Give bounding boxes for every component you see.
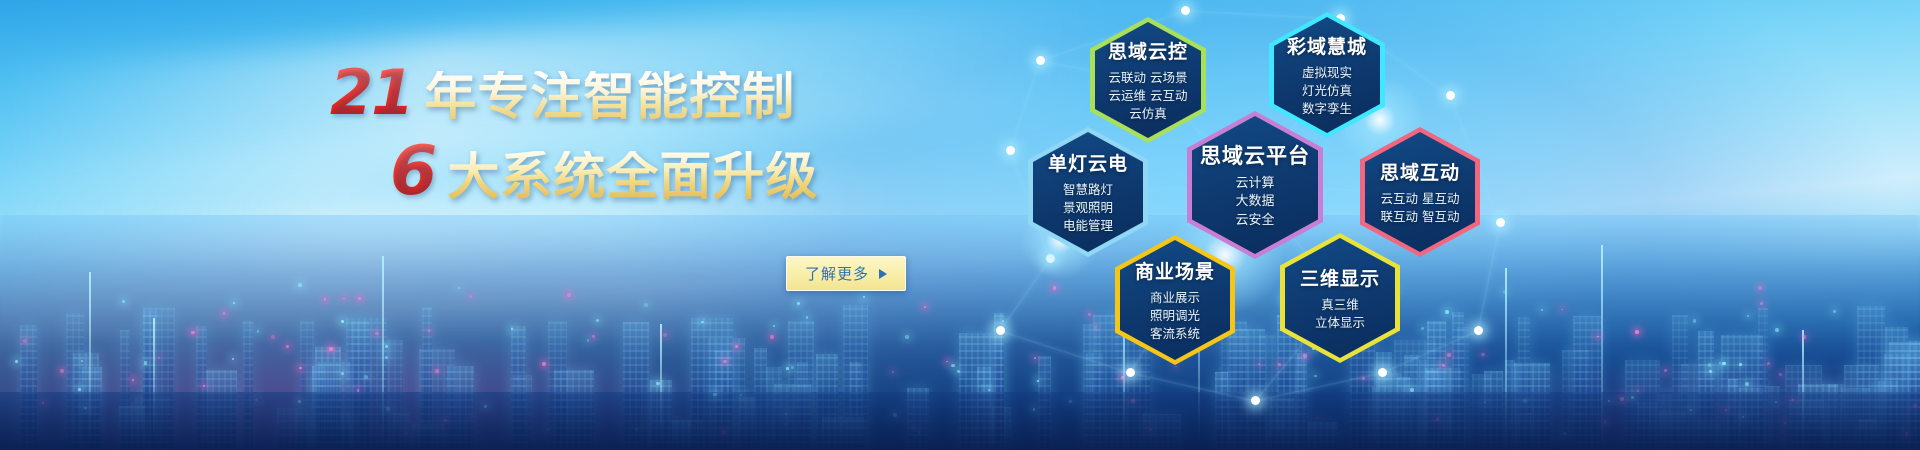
city-light — [957, 370, 960, 373]
city-light — [567, 293, 571, 297]
hexagon-content: 三维显示真三维立体显示 — [1280, 233, 1400, 363]
systems-number: 6 — [390, 138, 447, 206]
waterfront — [0, 392, 1920, 450]
city-light — [951, 364, 955, 368]
network-connector — [1000, 330, 1131, 374]
city-light — [1833, 310, 1836, 313]
hexagon-title: 彩域慧城 — [1287, 32, 1367, 59]
network-node — [1006, 146, 1015, 155]
city-light — [23, 339, 27, 343]
city-light — [1775, 328, 1779, 332]
years-number: 21 — [330, 62, 424, 124]
hexagon-title: 思域互动 — [1380, 158, 1460, 185]
network-connector — [1130, 372, 1255, 402]
city-light — [132, 379, 134, 381]
hexagon-subtitle-line: 联互动 智互动 — [1381, 208, 1460, 226]
city-light — [1709, 370, 1712, 373]
hexagon-subtitle-line: 电能管理 — [1063, 217, 1113, 235]
city-light — [122, 300, 125, 303]
network-connector — [1009, 61, 1041, 152]
city-light — [341, 372, 344, 375]
city-light — [232, 358, 234, 360]
play-triangle-icon — [879, 269, 887, 279]
hexagon-title: 三维显示 — [1300, 264, 1380, 291]
hexagon-subtitle-line: 云计算 — [1235, 175, 1274, 193]
city-light — [1561, 309, 1563, 311]
hexagon-subtitle-line: 虚拟现实 — [1302, 64, 1352, 82]
hexagon-subtitle-line: 照明调光 — [1150, 307, 1200, 325]
city-light — [924, 306, 926, 308]
city-light — [1693, 319, 1696, 322]
city-light — [723, 360, 727, 364]
network-node — [1036, 56, 1045, 65]
headline-line-1: 21 年专注智能控制 — [330, 62, 930, 124]
promo-banner: 21 年专注智能控制 6 大系统全面升级 了解更多 思域云控云联动 云场景云运维… — [0, 0, 1920, 450]
city-light — [203, 385, 205, 387]
network-connector — [1477, 223, 1501, 331]
city-light — [385, 356, 388, 359]
city-light — [542, 362, 546, 366]
city-light — [905, 335, 909, 339]
hexagon-subtitle-line: 灯光仿真 — [1302, 82, 1352, 100]
city-light — [511, 328, 513, 330]
hexagon-subtitle-line: 景观照明 — [1063, 199, 1113, 217]
hexagon-network: 思域云控云联动 云场景云运维 云互动云仿真彩域慧城虚拟现实灯光仿真数字孪生单灯云… — [980, 0, 1540, 450]
hexagon-subtitle-line: 立体显示 — [1315, 314, 1365, 332]
hexagon-subtitle-line: 商业展示 — [1150, 289, 1200, 307]
city-light — [233, 302, 235, 304]
city-light — [892, 371, 894, 373]
hexagon-title: 单灯云电 — [1048, 149, 1128, 176]
headline-line-2: 6 大系统全面升级 — [330, 138, 930, 206]
hexagon-subtitle-line: 云运维 云互动 — [1109, 87, 1188, 105]
city-light — [1722, 362, 1726, 366]
hexagon-title: 思域云控 — [1108, 37, 1188, 64]
city-light — [271, 335, 275, 339]
hexagon-title: 商业场景 — [1135, 257, 1215, 284]
headline-block: 21 年专注智能控制 6 大系统全面升级 — [330, 62, 930, 206]
hexagon-title: 思域云平台 — [1200, 140, 1310, 170]
hexagon-subtitle-line: 云仿真 — [1129, 105, 1167, 123]
city-light — [1635, 330, 1639, 334]
network-node — [1378, 368, 1387, 377]
network-node — [1181, 6, 1190, 15]
city-light — [191, 331, 195, 335]
city-light — [1758, 286, 1762, 290]
learn-more-label: 了解更多 — [805, 263, 869, 284]
city-light — [791, 366, 794, 369]
city-light — [701, 321, 704, 324]
city-light — [158, 357, 160, 359]
hexagon-subtitle-line: 数字孪生 — [1302, 100, 1352, 118]
learn-more-button[interactable]: 了解更多 — [786, 256, 906, 291]
city-light — [298, 283, 302, 287]
city-light — [1708, 363, 1711, 366]
network-connector — [1382, 330, 1479, 374]
hexagon-subtitle-line: 大数据 — [1235, 193, 1274, 211]
city-light — [1745, 382, 1749, 386]
headline-text-2: 大系统全面升级 — [447, 151, 818, 203]
city-skyline — [0, 215, 1920, 450]
city-light — [144, 361, 147, 364]
hexagon-subtitle-line: 云安全 — [1235, 212, 1274, 230]
city-light — [1739, 363, 1742, 366]
hexagon-sanwei-xianshi[interactable]: 三维显示真三维立体显示 — [1280, 233, 1400, 363]
city-light — [299, 367, 302, 370]
city-light — [786, 367, 789, 370]
city-light — [78, 388, 81, 391]
network-node — [1474, 326, 1483, 335]
hexagon-subtitle-line: 云互动 星互动 — [1381, 190, 1460, 208]
network-node — [1251, 396, 1260, 405]
city-light — [385, 345, 388, 348]
city-light — [81, 360, 83, 362]
network-node — [996, 326, 1005, 335]
hexagon-subtitle-line: 真三维 — [1321, 296, 1359, 314]
network-node — [1496, 218, 1505, 227]
headline-text-1: 年专注智能控制 — [424, 71, 795, 123]
hexagon-subtitle-line: 云联动 云场景 — [1109, 69, 1188, 87]
hexagon-subtitle-line: 智慧路灯 — [1063, 181, 1113, 199]
city-light — [329, 347, 333, 351]
network-node — [1446, 91, 1455, 100]
city-light — [1664, 369, 1667, 372]
city-light — [435, 369, 439, 373]
city-light — [587, 339, 589, 341]
hexagon-subtitle-line: 客流系统 — [1150, 325, 1200, 343]
network-node — [1126, 368, 1135, 377]
city-light — [1760, 302, 1763, 305]
